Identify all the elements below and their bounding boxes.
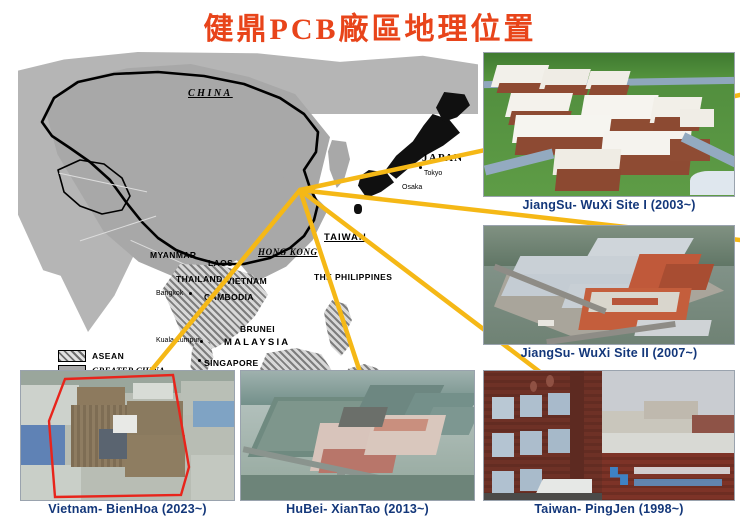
site-caption-taiwan: Taiwan- PingJen (1998~) bbox=[483, 502, 735, 516]
map-label-philippines: THE PHILIPPINES bbox=[314, 272, 392, 282]
site-card-vietnam[interactable]: Vietnam- BienHoa (2023~) bbox=[20, 370, 235, 501]
map-label-cambodia: CAMBODIA bbox=[204, 292, 254, 302]
asia-map-panel: CHINA JAPAN TAIWAN HONG KONG MYANMAR LAO… bbox=[18, 52, 478, 370]
site-card-wuxi-1[interactable]: JiangSu- WuXi Site I (2003~) bbox=[483, 52, 735, 197]
map-label-hongkong: HONG KONG bbox=[258, 247, 318, 257]
map-label-kualalumpur: Kuala Lumpur bbox=[156, 337, 200, 344]
site-caption-wuxi-1: JiangSu- WuXi Site I (2003~) bbox=[483, 198, 735, 212]
map-city-dot-singapore bbox=[198, 359, 201, 362]
site-caption-hubei: HuBei- XianTao (2013~) bbox=[240, 502, 475, 516]
site-card-taiwan[interactable]: Taiwan- PingJen (1998~) bbox=[483, 370, 735, 501]
map-label-osaka: Osaka bbox=[402, 184, 422, 191]
map-city-dot-bangkok bbox=[189, 292, 192, 295]
site-photo-wuxi-1 bbox=[483, 52, 735, 197]
map-city-dot-kualalumpur bbox=[200, 340, 203, 343]
map-label-vietnam: VIETNAM bbox=[226, 276, 267, 286]
map-label-japan: JAPAN bbox=[422, 152, 463, 164]
site-caption-wuxi-2: JiangSu- WuXi Site II (2007~) bbox=[483, 346, 735, 360]
map-region-japan-islets bbox=[354, 204, 362, 214]
map-city-dot-tokyo bbox=[419, 166, 422, 169]
site-photo-wuxi-2 bbox=[483, 225, 735, 345]
legend-item-asean: ASEAN bbox=[58, 349, 165, 362]
map-legend: ASEAN GREATER CHINA bbox=[58, 349, 165, 370]
site-card-wuxi-2[interactable]: JiangSu- WuXi Site II (2007~) bbox=[483, 225, 735, 345]
map-label-singapore: SINGAPORE bbox=[204, 358, 259, 368]
map-label-laos: LAOS bbox=[208, 258, 233, 268]
map-label-brunei: BRUNEI bbox=[240, 324, 275, 334]
site-boundary-outline bbox=[21, 371, 235, 501]
page-title: 健鼎PCB廠區地理位置 bbox=[0, 4, 740, 48]
map-label-myanmar: MYANMAR bbox=[150, 250, 196, 260]
map-label-china: CHINA bbox=[188, 88, 233, 99]
site-photo-taiwan bbox=[483, 370, 735, 501]
site-photo-vietnam bbox=[20, 370, 235, 501]
map-label-malaysia: MALAYSIA bbox=[224, 337, 290, 348]
map-label-taiwan: TAIWAN bbox=[324, 232, 367, 243]
map-label-bangkok: Bangkok bbox=[156, 290, 183, 297]
map-label-thailand: THAILAND bbox=[176, 274, 223, 284]
site-caption-vietnam: Vietnam- BienHoa (2023~) bbox=[20, 502, 235, 516]
site-card-hubei[interactable]: HuBei- XianTao (2013~) bbox=[240, 370, 475, 501]
legend-label-asean: ASEAN bbox=[92, 351, 124, 361]
map-label-tokyo: Tokyo bbox=[424, 170, 442, 177]
legend-swatch-asean bbox=[58, 350, 86, 362]
site-photo-hubei bbox=[240, 370, 475, 501]
